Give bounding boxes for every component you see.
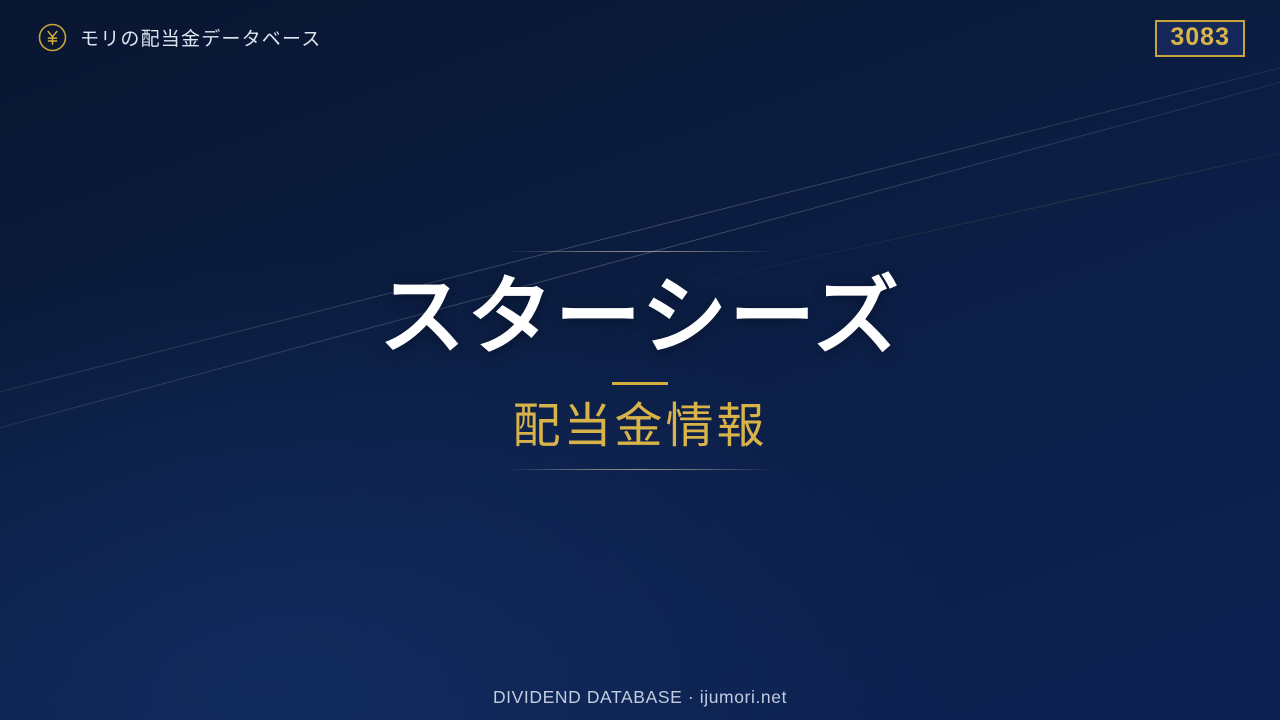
divider-top (506, 251, 774, 252)
gold-accent-divider (612, 382, 668, 385)
footer-text: DIVIDEND DATABASE · ijumori.net (0, 687, 1280, 708)
section-label: 配当金情報 (512, 403, 767, 451)
divider-bottom (506, 469, 774, 470)
title-slide: モリの配当金データベース 3083 スターシーズ 配当金情報 DIVIDEND … (0, 0, 1280, 720)
main-content: スターシーズ 配当金情報 (0, 0, 1280, 720)
company-name: スターシーズ (379, 274, 901, 360)
